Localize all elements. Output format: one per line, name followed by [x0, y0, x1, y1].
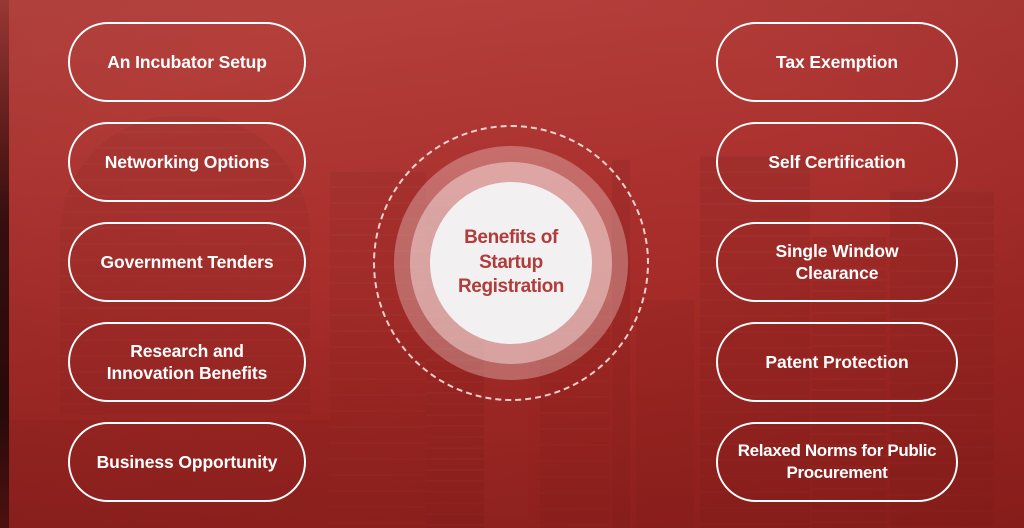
benefit-pill-business-opportunity[interactable]: Business Opportunity: [68, 422, 306, 502]
benefit-label: Research and Innovation Benefits: [107, 340, 267, 385]
benefit-label: Business Opportunity: [97, 451, 278, 473]
infographic-canvas: An Incubator Setup Networking Options Go…: [0, 0, 1024, 528]
benefit-label: Tax Exemption: [776, 51, 898, 73]
center-title: Benefits ofStartup Registration: [430, 226, 592, 300]
benefit-label: An Incubator Setup: [107, 51, 267, 73]
benefit-pill-an-incubator-setup[interactable]: An Incubator Setup: [68, 22, 306, 102]
benefits-column-left: An Incubator Setup Networking Options Go…: [68, 22, 306, 502]
benefit-pill-single-window-clearance[interactable]: Single Window Clearance: [716, 222, 958, 302]
benefit-pill-tax-exemption[interactable]: Tax Exemption: [716, 22, 958, 102]
benefit-label: Patent Protection: [765, 351, 908, 373]
benefits-column-right: Tax Exemption Self Certification Single …: [716, 22, 958, 502]
benefit-pill-government-tenders[interactable]: Government Tenders: [68, 222, 306, 302]
benefit-pill-research-and-innovation-benefits[interactable]: Research and Innovation Benefits: [68, 322, 306, 402]
benefit-pill-patent-protection[interactable]: Patent Protection: [716, 322, 958, 402]
benefit-pill-relaxed-norms-for-public-procurement[interactable]: Relaxed Norms for Public Procurement: [716, 422, 958, 502]
benefit-label: Networking Options: [105, 151, 269, 173]
benefit-label: Self Certification: [768, 151, 905, 173]
benefit-label: Government Tenders: [101, 251, 274, 273]
center-emblem: Benefits ofStartup Registration: [373, 125, 649, 401]
benefit-label: Relaxed Norms for Public Procurement: [738, 440, 937, 484]
benefit-label: Single Window Clearance: [776, 240, 899, 285]
left-edge-shadow: [0, 0, 9, 528]
benefit-pill-self-certification[interactable]: Self Certification: [716, 122, 958, 202]
benefit-pill-networking-options[interactable]: Networking Options: [68, 122, 306, 202]
center-disc: Benefits ofStartup Registration: [430, 182, 592, 344]
